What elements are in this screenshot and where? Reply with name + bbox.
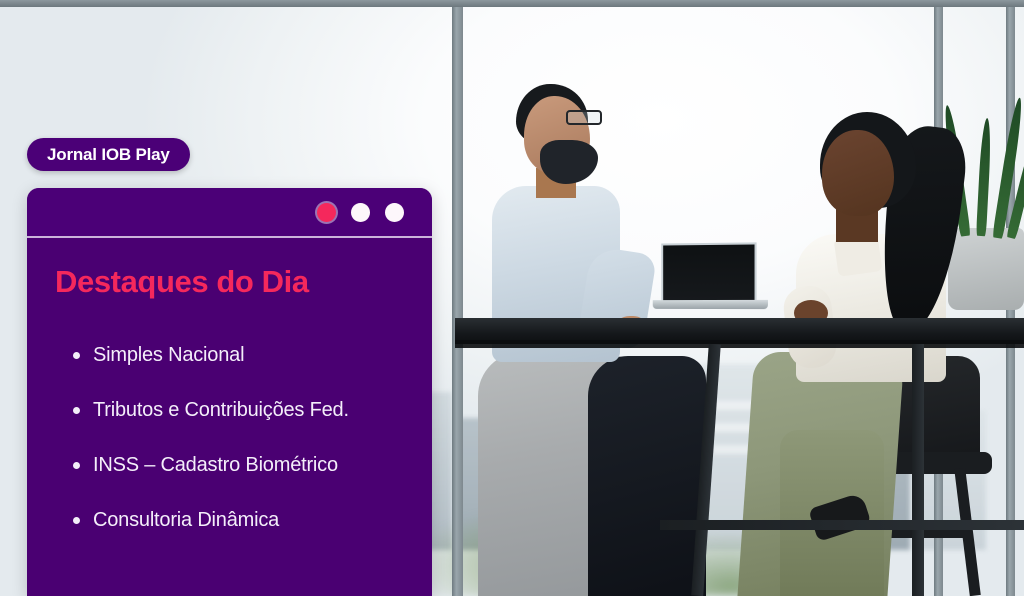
- minimize-dot-icon[interactable]: [351, 203, 370, 222]
- list-item[interactable]: Tributos e Contribuições Fed.: [27, 399, 432, 421]
- slide-canvas: Jornal IOB Play Destaques do Dia Simples…: [0, 0, 1024, 596]
- jornal-iob-play-badge[interactable]: Jornal IOB Play: [27, 138, 190, 171]
- window-transom: [0, 0, 1024, 7]
- window-mullion: [452, 0, 463, 596]
- card-window-titlebar: [27, 188, 432, 236]
- person-left-leg: [588, 356, 706, 596]
- laptop-base: [653, 300, 768, 309]
- laptop-screen: [661, 242, 756, 301]
- person-right-head: [822, 130, 894, 216]
- bar-table-edge: [455, 340, 1024, 348]
- close-dot-icon[interactable]: [317, 203, 336, 222]
- bar-table-leg: [912, 344, 924, 596]
- person-left-glasses: [566, 110, 602, 125]
- list-item[interactable]: Simples Nacional: [27, 344, 432, 366]
- card-title: Destaques do Dia: [55, 264, 432, 300]
- list-item[interactable]: INSS – Cadastro Biométrico: [27, 454, 432, 476]
- maximize-dot-icon[interactable]: [385, 203, 404, 222]
- plant-pot: [948, 228, 1024, 310]
- destaques-card: Destaques do Dia Simples Nacional Tribut…: [27, 188, 432, 596]
- card-body: Destaques do Dia Simples Nacional Tribut…: [27, 238, 432, 531]
- list-item[interactable]: Consultoria Dinâmica: [27, 509, 432, 531]
- highlights-list: Simples Nacional Tributos e Contribuiçõe…: [27, 344, 432, 531]
- bar-table-rail: [660, 520, 1024, 530]
- card-divider: [27, 236, 432, 238]
